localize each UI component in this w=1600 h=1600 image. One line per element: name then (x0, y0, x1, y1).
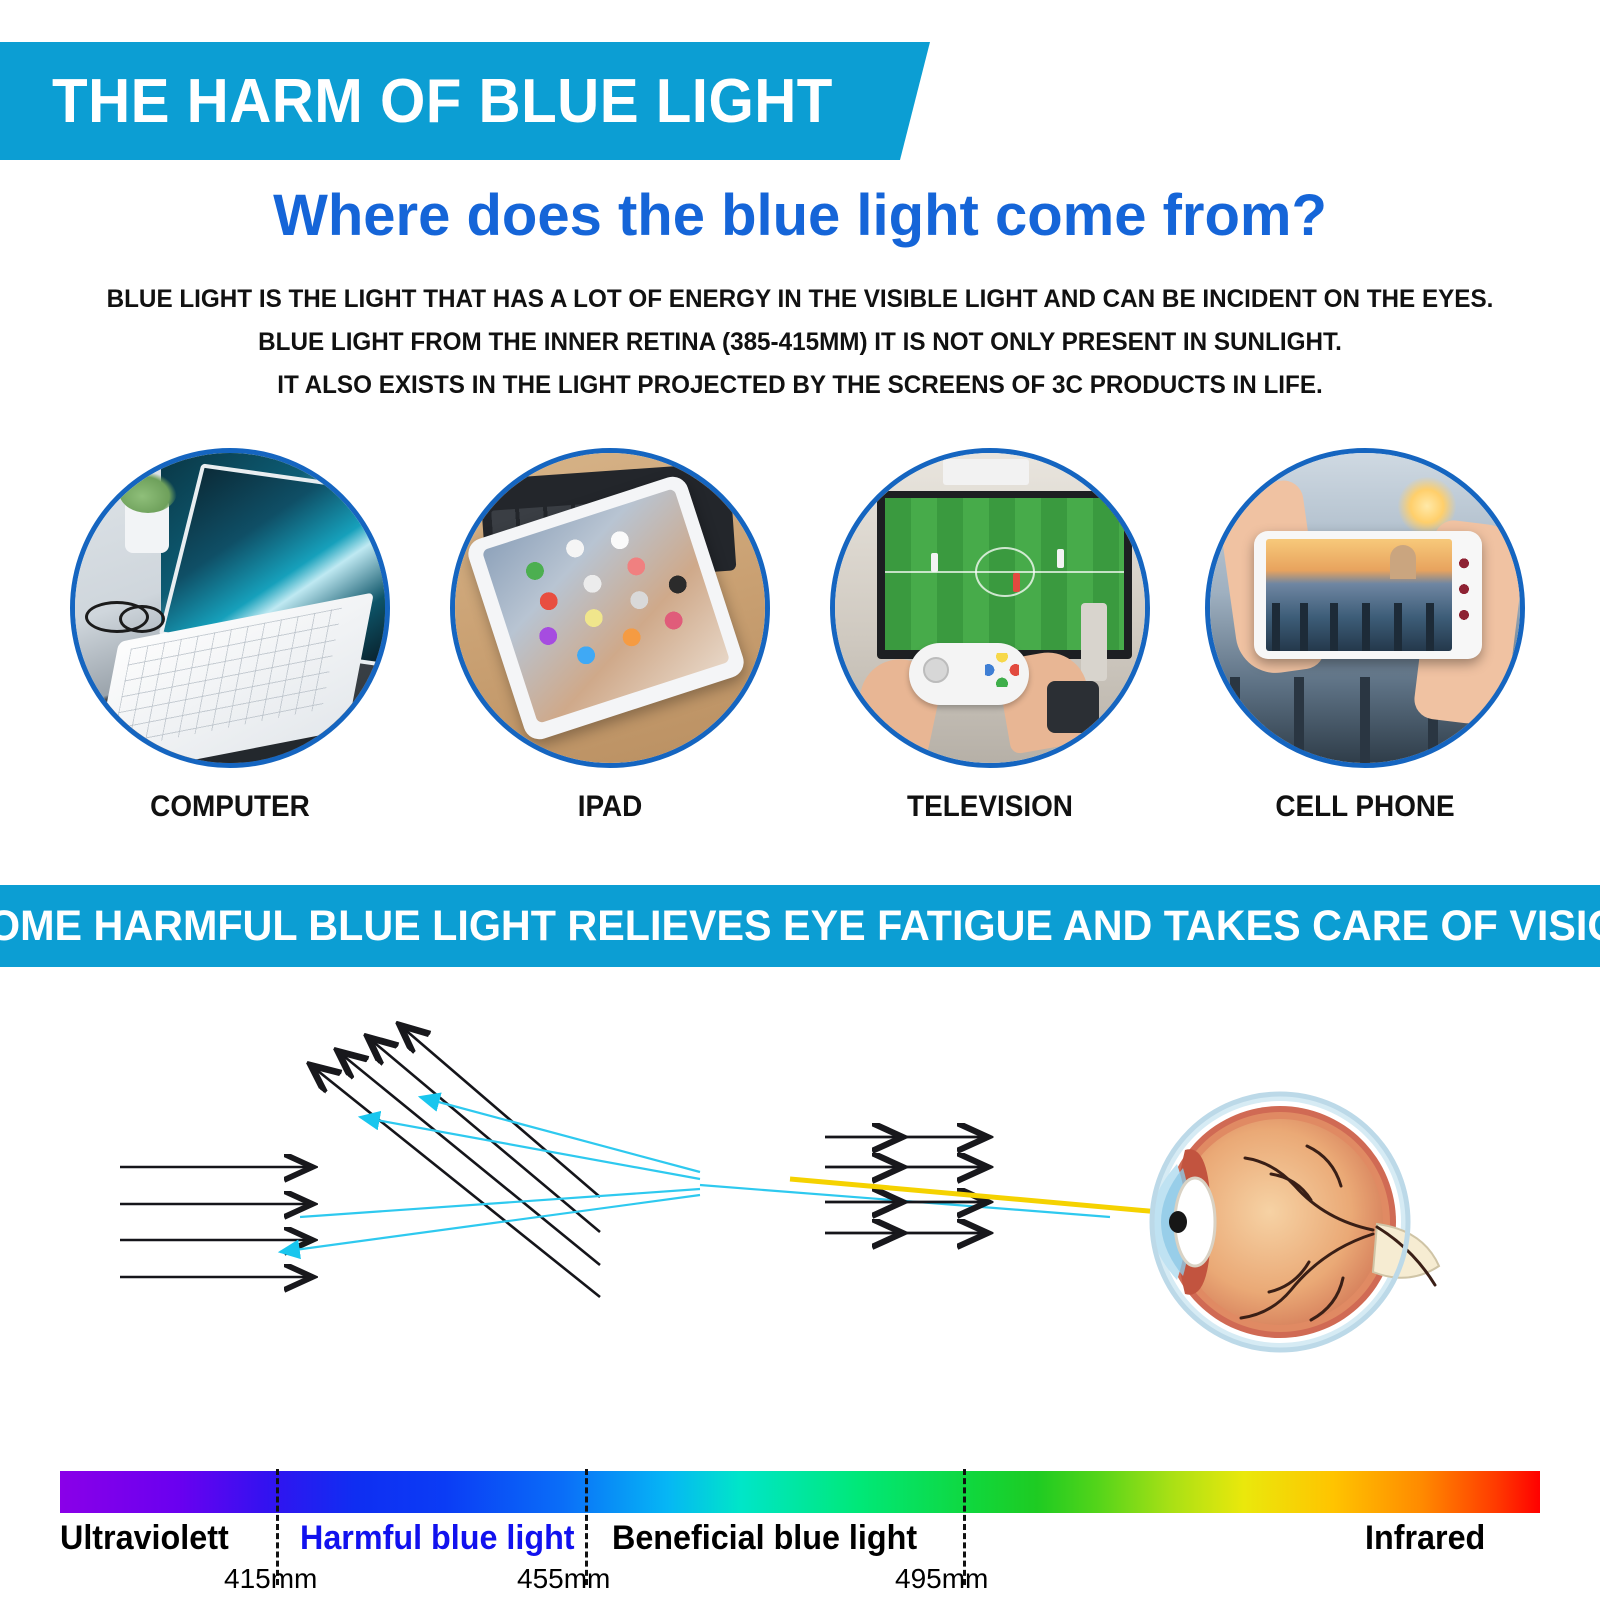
blue-light-sources: COMPUTER IPAD (0, 448, 1600, 858)
intro-line-1: BLUE LIGHT IS THE LIGHT THAT HAS A LOT O… (24, 278, 1576, 321)
spectrum-label-infrared: Infrared (1365, 1519, 1485, 1558)
eye-cross-section-icon (1065, 1072, 1445, 1372)
intro-paragraph: BLUE LIGHT IS THE LIGHT THAT HAS A LOT O… (0, 278, 1600, 407)
spectrum-value-455: 455mm (517, 1563, 610, 1595)
spectrum-gradient-bar (60, 1471, 1540, 1513)
lens-light-diagram: BLOCKING BLUE LIGHT EMITS HARMFUL BLUE L… (0, 967, 1600, 1437)
computer-photo (70, 448, 390, 768)
intro-line-3: IT ALSO EXISTS IN THE LIGHT PROJECTED BY… (24, 364, 1576, 407)
ipad-photo (450, 448, 770, 768)
header-ribbon: THE HARM OF BLUE LIGHT (0, 42, 930, 160)
refracted-cyan-ray-group (280, 1097, 1110, 1252)
spectrum-label-harmful-blue-light: Harmful blue light (300, 1519, 575, 1558)
spectrum-value-495: 495mm (895, 1563, 988, 1595)
television-photo (830, 448, 1150, 768)
source-label-cell-phone: CELL PHONE (1216, 790, 1514, 824)
blocked-ray-group (313, 1027, 600, 1297)
source-item-ipad[interactable]: IPAD (450, 448, 770, 824)
cell-phone-photo (1205, 448, 1525, 768)
benefit-banner-text: BLOCKS SOME HARMFUL BLUE LIGHT RELIEVES … (0, 902, 1600, 951)
spectrum-label-ultraviolett: Ultraviolett (60, 1519, 229, 1558)
benefit-banner: BLOCKS SOME HARMFUL BLUE LIGHT RELIEVES … (0, 885, 1600, 967)
source-item-television[interactable]: TELEVISION (830, 448, 1150, 824)
section-question: Where does the blue light come from? (0, 182, 1600, 249)
source-item-computer[interactable]: COMPUTER (70, 448, 390, 824)
wavelength-spectrum-chart: Ultraviolett Harmful blue light Benefici… (60, 1471, 1540, 1513)
source-label-ipad: IPAD (461, 790, 759, 824)
source-label-computer: COMPUTER (81, 790, 379, 824)
incoming-ray-group (120, 1167, 310, 1277)
intro-line-2: BLUE LIGHT FROM THE INNER RETINA (385-41… (24, 321, 1576, 364)
spectrum-value-415: 415mm (224, 1563, 317, 1595)
source-item-cell-phone[interactable]: CELL PHONE (1205, 448, 1525, 824)
page-title: THE HARM OF BLUE LIGHT (52, 66, 833, 137)
source-label-television: TELEVISION (841, 790, 1139, 824)
spectrum-label-beneficial-blue-light: Beneficial blue light (612, 1519, 917, 1558)
